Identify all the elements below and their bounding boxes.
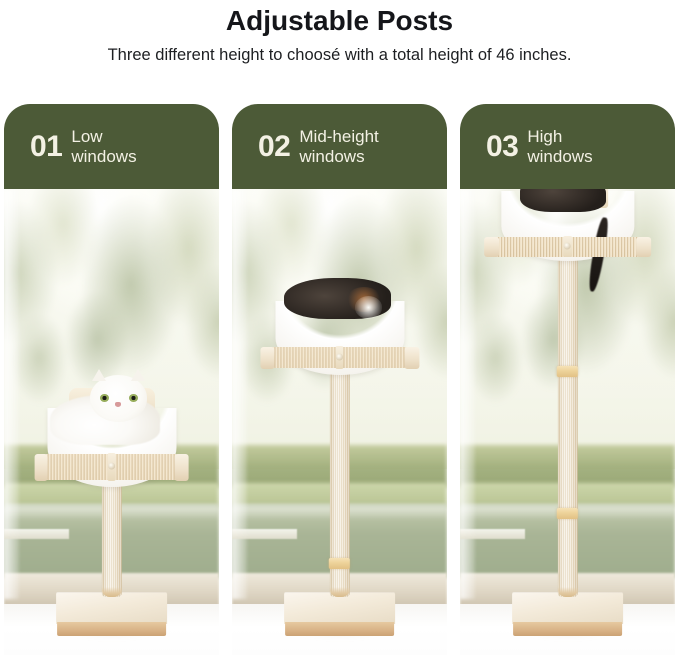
- sisal-post: [101, 480, 121, 597]
- black-cat: [520, 189, 606, 212]
- base-wood-edge: [57, 622, 167, 636]
- badge-label-line1-01: Low: [71, 127, 136, 147]
- base-top-surface: [56, 592, 168, 624]
- badge-02: 02 Mid-height windows: [232, 104, 447, 189]
- base-wood-edge: [513, 622, 623, 636]
- post-connector-ring: [329, 558, 350, 569]
- badge-label-03: High windows: [527, 127, 592, 167]
- deck-rail-right: [636, 237, 651, 257]
- deck-rail-left: [260, 347, 274, 369]
- panel-mid-height-windows: 02 Mid-height windows: [232, 104, 447, 655]
- deck-rail-left: [484, 237, 499, 257]
- post-cap: [557, 587, 577, 597]
- badge-01: 01 Low windows: [4, 104, 219, 189]
- cat-white-bib: [355, 296, 383, 319]
- base-wood-edge: [285, 622, 395, 636]
- badge-label-line2-01: windows: [71, 147, 136, 167]
- post-base: [56, 592, 168, 636]
- sisal-post: [329, 364, 349, 597]
- base-top-surface: [284, 592, 396, 624]
- cat-ear-right: [131, 369, 145, 381]
- cat-tree-mid: [232, 189, 447, 655]
- deck-rail-left: [34, 454, 48, 481]
- badge-label-line2-03: windows: [527, 147, 592, 167]
- panel-row: 01 Low windows: [0, 104, 679, 655]
- badge-label-02: Mid-height windows: [299, 127, 378, 167]
- infographic-page: Adjustable Posts Three different height …: [0, 0, 679, 655]
- deck-screw: [564, 243, 571, 250]
- page-title: Adjustable Posts: [0, 4, 679, 38]
- post-cap: [329, 587, 349, 597]
- deck-rail-right: [175, 454, 189, 481]
- cat-tree-low: [4, 189, 219, 655]
- cat-nose: [115, 402, 121, 407]
- cat-ear-left: [92, 369, 106, 381]
- post-connector-ring-upper: [557, 366, 578, 377]
- sisal-post: [557, 243, 577, 597]
- header: Adjustable Posts Three different height …: [0, 0, 679, 66]
- cat-eye-left: [100, 394, 109, 402]
- photo-low-windows: [4, 189, 219, 655]
- deck-rail-right: [405, 347, 419, 369]
- panel-high-windows: 03 High windows: [460, 104, 675, 655]
- deck-screw: [108, 463, 115, 470]
- badge-number-03: 03: [486, 132, 518, 162]
- badge-label-01: Low windows: [71, 127, 136, 167]
- badge-label-line1-02: Mid-height: [299, 127, 378, 147]
- badge-03: 03 High windows: [460, 104, 675, 189]
- badge-label-line2-02: windows: [299, 147, 378, 167]
- badge-number-02: 02: [258, 132, 290, 162]
- white-persian-cat: [43, 375, 168, 445]
- base-top-surface: [512, 592, 624, 624]
- post-cap: [101, 587, 121, 597]
- scratch-platform: [260, 347, 419, 368]
- badge-number-01: 01: [30, 132, 62, 162]
- panel-low-windows: 01 Low windows: [4, 104, 219, 655]
- photo-mid-windows: [232, 189, 447, 655]
- badge-label-line1-03: High: [527, 127, 592, 147]
- post-connector-ring-lower: [557, 508, 578, 519]
- scratch-platform: [34, 454, 189, 480]
- tortoiseshell-cat: [284, 278, 392, 320]
- deck-screw: [336, 353, 343, 360]
- photo-high-windows: [460, 189, 675, 655]
- scratch-platform: [484, 237, 652, 257]
- cat-head: [90, 375, 147, 421]
- post-base: [284, 592, 396, 636]
- cat-tree-high: [460, 189, 675, 655]
- page-subtitle: Three different height to choosé with a …: [0, 44, 679, 66]
- post-base: [512, 592, 624, 636]
- cat-eye-right: [129, 394, 138, 402]
